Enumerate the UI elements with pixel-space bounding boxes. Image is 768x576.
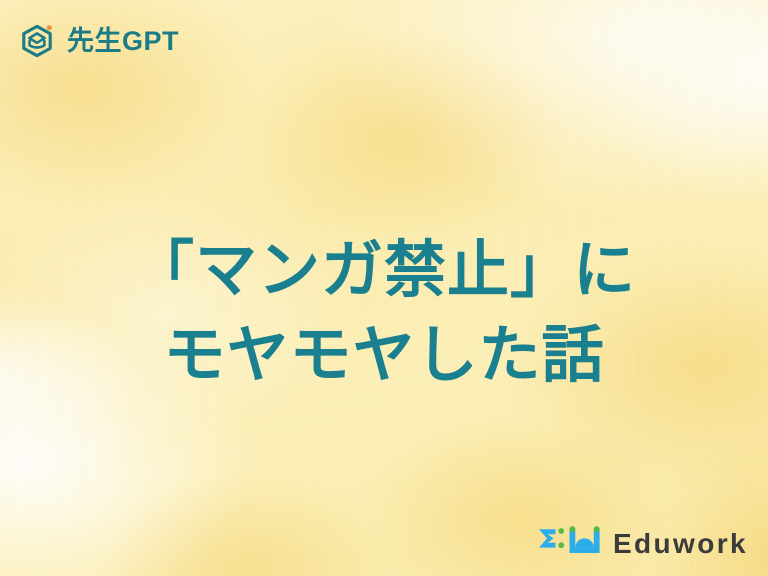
partner-lockup: Eduwork bbox=[533, 526, 748, 562]
page-title-line-2: モヤモヤした話 bbox=[0, 313, 768, 399]
graduation-cap-hexagon-icon bbox=[16, 20, 58, 62]
brand-name: 先生GPT bbox=[67, 28, 179, 55]
page-title-line-1: 「マンガ禁止」に bbox=[0, 228, 768, 314]
slide-canvas: 先生GPT 「マンガ禁止」に モヤモヤした話 Eduwork bbox=[0, 0, 768, 576]
eduwork-mark-icon bbox=[533, 526, 601, 562]
partner-name: Eduwork bbox=[613, 530, 748, 558]
brand-lockup: 先生GPT bbox=[16, 20, 179, 62]
page-title: 「マンガ禁止」に モヤモヤした話 bbox=[0, 228, 768, 399]
